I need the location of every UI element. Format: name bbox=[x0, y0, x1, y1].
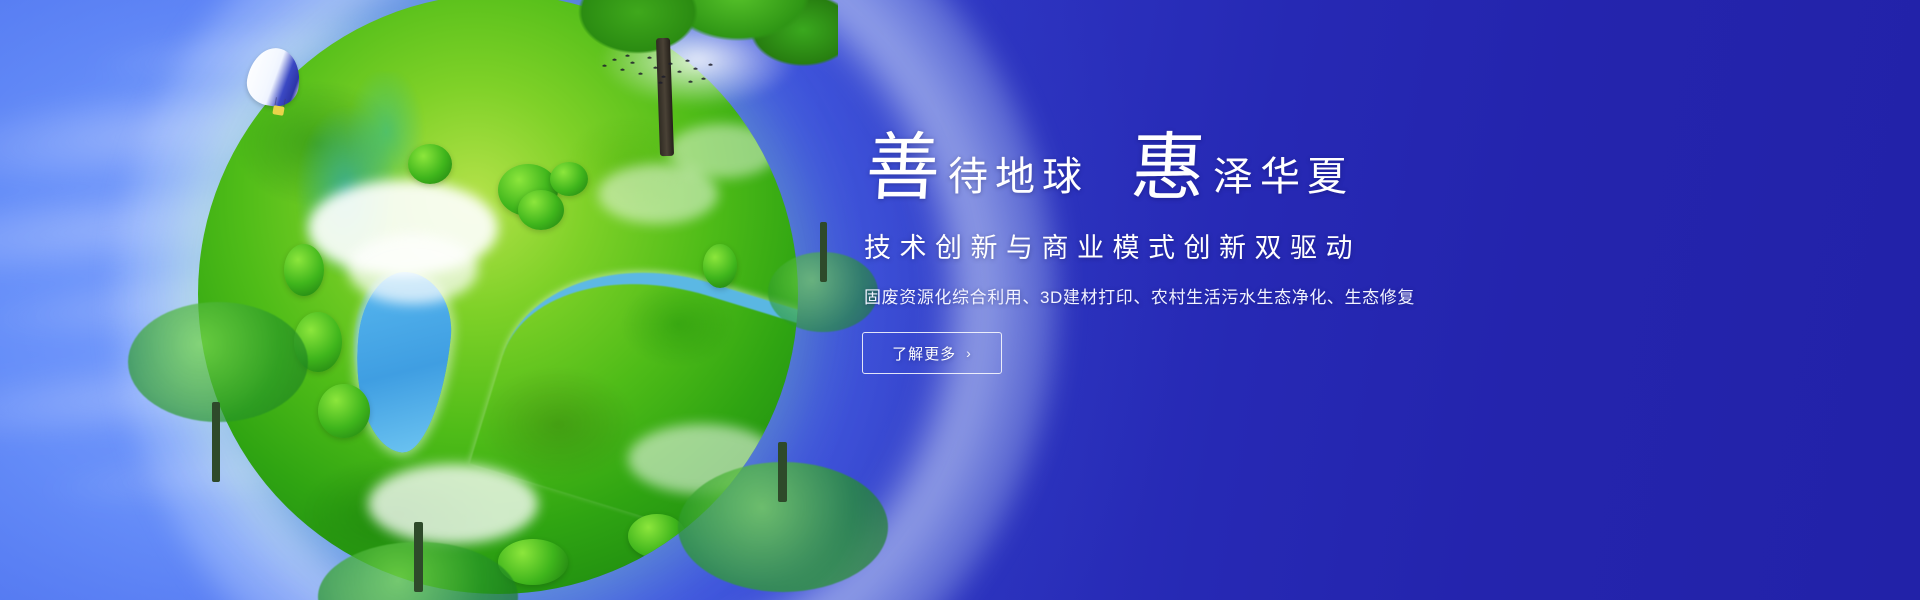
chevron-right-icon: › bbox=[966, 346, 972, 360]
hero-banner: 善 待地球 惠 泽华夏 技术创新与商业模式创新双驱动 固废资源化综合利用、3D建… bbox=[0, 0, 1920, 600]
bird-flock-icon bbox=[598, 52, 718, 92]
balloon-envelope bbox=[243, 44, 304, 110]
headline-part1-small: 待地球 bbox=[940, 157, 1089, 204]
headline-part1-big: 善 bbox=[864, 134, 942, 204]
page-description: 固废资源化综合利用、3D建材打印、农村生活污水生态净化、生态修复 bbox=[864, 283, 1620, 308]
headline-part2-small: 泽华夏 bbox=[1205, 157, 1354, 204]
learn-more-label: 了解更多 bbox=[892, 343, 956, 364]
hero-copy: 善 待地球 惠 泽华夏 技术创新与商业模式创新双驱动 固废资源化综合利用、3D建… bbox=[860, 120, 1620, 374]
page-subtitle: 技术创新与商业模式创新双驱动 bbox=[864, 226, 1620, 265]
balloon-basket bbox=[272, 105, 284, 116]
hot-air-balloon-icon bbox=[248, 48, 304, 122]
headline-part2-big: 惠 bbox=[1129, 134, 1207, 204]
learn-more-button[interactable]: 了解更多 › bbox=[862, 332, 1002, 374]
page-title: 善 待地球 惠 泽华夏 bbox=[866, 120, 1620, 204]
